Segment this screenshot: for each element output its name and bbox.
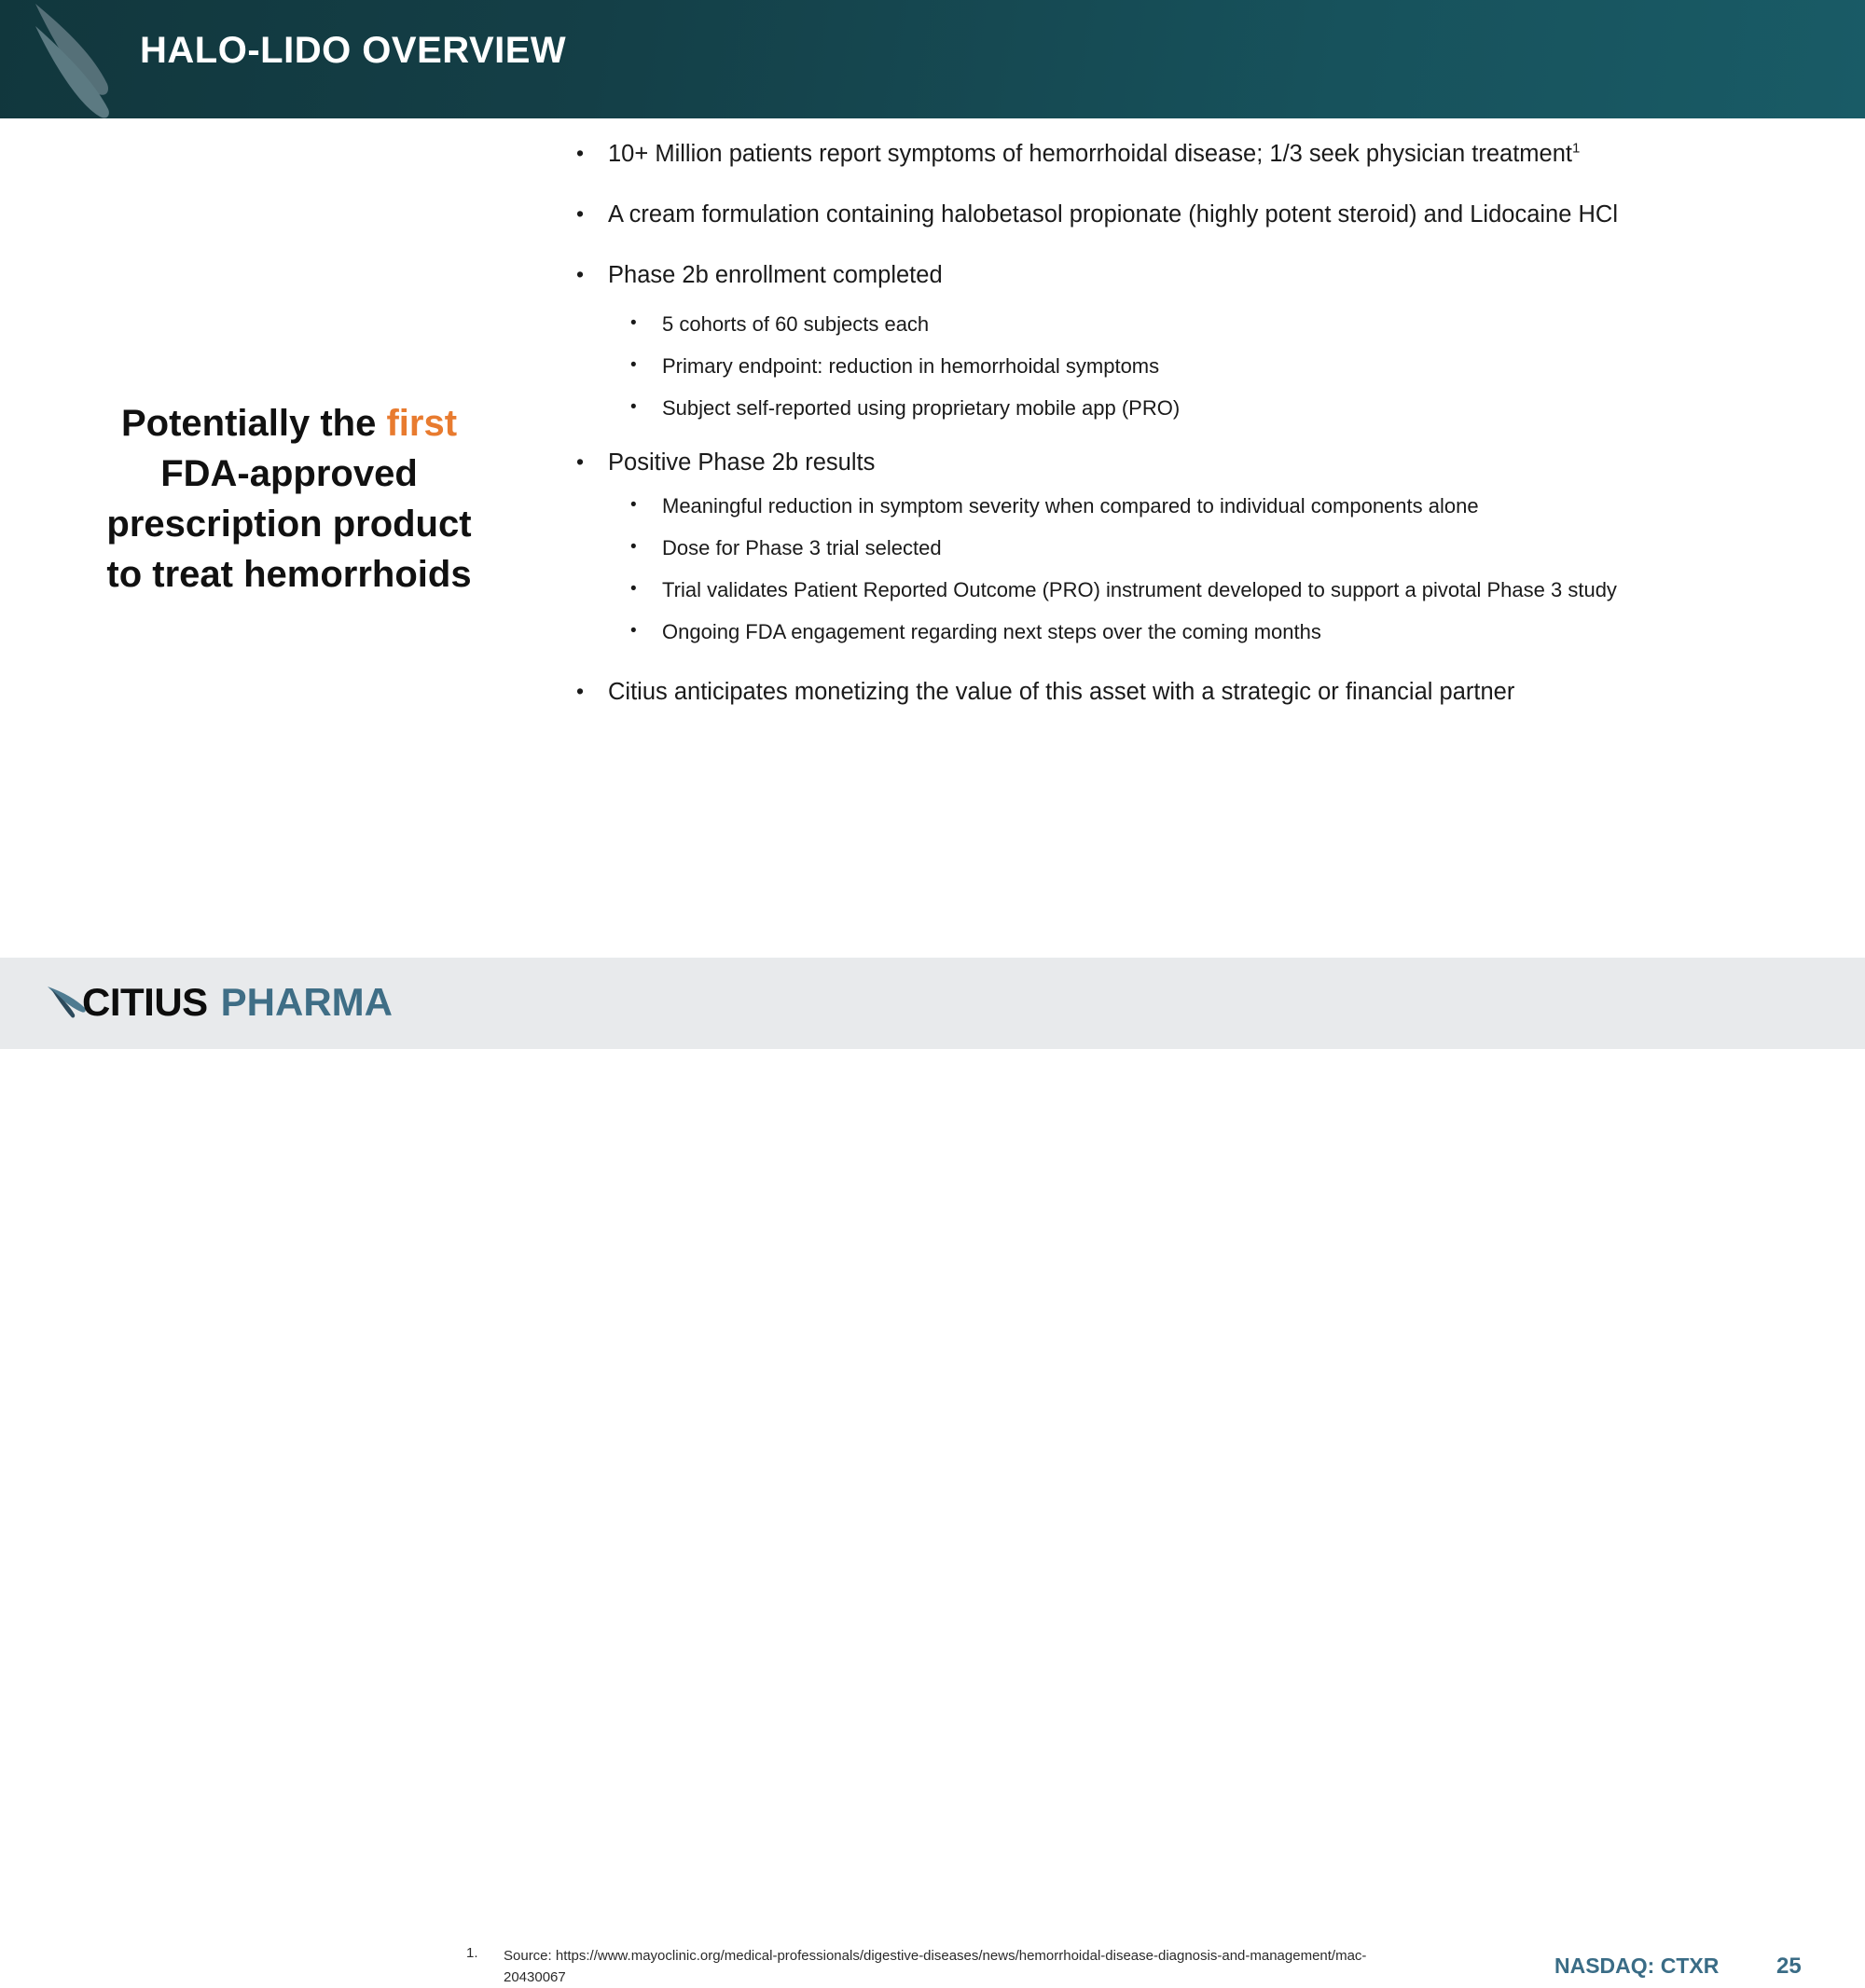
bullet-item: A cream formulation containing halobetas… <box>569 198 1809 232</box>
company-logo: CITIUS PHARMA <box>45 978 393 1027</box>
page-number: 25 <box>1776 1953 1802 1980</box>
citius-swoosh-icon <box>21 0 137 118</box>
logo-citius-text: CITIUS <box>82 980 208 1025</box>
sub-bullet-item: Ongoing FDA engagement regarding next st… <box>569 617 1809 647</box>
bullet-item: Phase 2b enrollment completed <box>569 258 1809 293</box>
page-title: HALO-LIDO OVERVIEW <box>140 30 566 72</box>
slide-footer: CITIUS PHARMA 1. Source: https://www.may… <box>0 958 1865 1049</box>
bullet-item: Positive Phase 2b results <box>569 446 1809 480</box>
headline-accent-word: first <box>386 403 457 444</box>
sub-bullet-item: Subject self-reported using proprietary … <box>569 393 1809 423</box>
slide-header: HALO-LIDO OVERVIEW <box>0 0 1865 118</box>
bullet-text: 10+ Million patients report symptoms of … <box>608 141 1572 167</box>
bullet-item: Citius anticipates monetizing the value … <box>569 675 1809 710</box>
bullet-list: 10+ Million patients report symptoms of … <box>569 137 1809 710</box>
bullet-item: 10+ Million patients report symptoms of … <box>569 137 1809 172</box>
sub-bullet-item: 5 cohorts of 60 subjects each <box>569 310 1809 339</box>
sub-bullet-item: Primary endpoint: reduction in hemorrhoi… <box>569 352 1809 381</box>
footnote-source: Source: https://www.mayoclinic.org/medic… <box>504 1945 1389 1988</box>
logo-pharma-text: PHARMA <box>221 980 393 1025</box>
sub-bullet-item: Meaningful reduction in symptom severity… <box>569 491 1809 521</box>
headline-part1: Potentially the <box>121 403 387 444</box>
footnote-number: 1. <box>466 1945 478 1961</box>
headline-part2: FDA-approved prescription product to tre… <box>106 453 471 595</box>
sub-bullet-item: Dose for Phase 3 trial selected <box>569 533 1809 563</box>
footnote-marker: 1 <box>1572 141 1580 157</box>
headline-callout: Potentially the first FDA-approved presc… <box>93 398 485 600</box>
sub-bullet-item: Trial validates Patient Reported Outcome… <box>569 575 1809 605</box>
slide-body: Potentially the first FDA-approved presc… <box>0 118 1865 958</box>
nasdaq-ticker: NASDAQ: CTXR <box>1554 1953 1719 1979</box>
